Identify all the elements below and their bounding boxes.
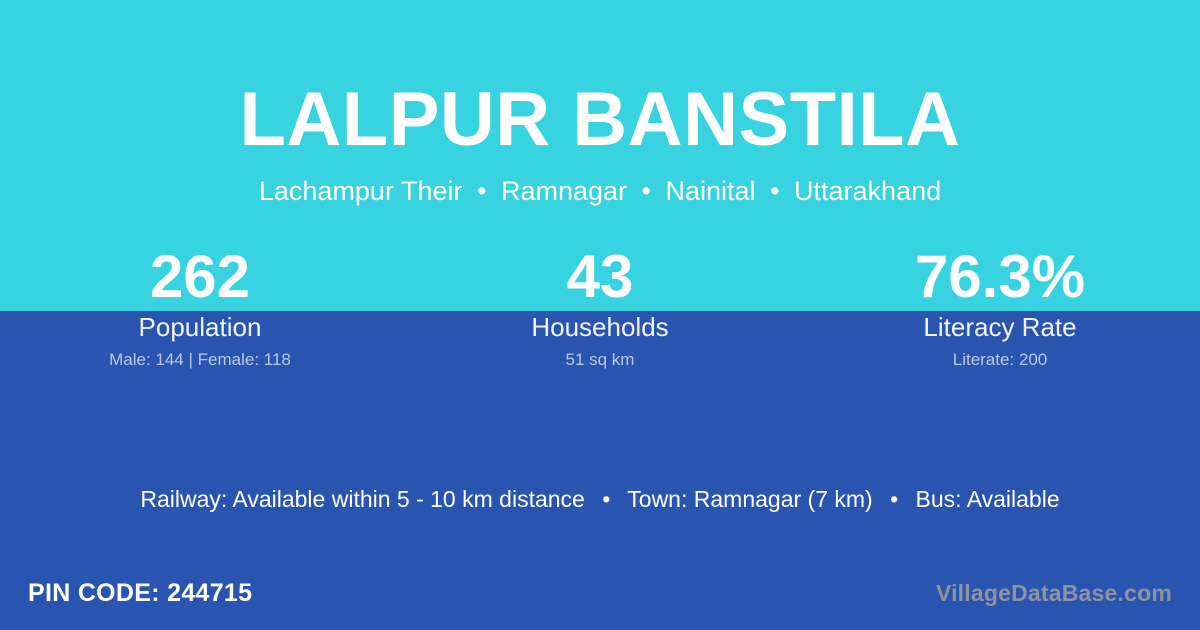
stats-row: 262 Population Male: 144 | Female: 118 4… bbox=[0, 246, 1200, 370]
breadcrumb-separator-icon: • bbox=[635, 176, 658, 206]
infrastructure-separator-icon: • bbox=[591, 486, 621, 512]
breadcrumb-item-district: Nainital bbox=[666, 176, 756, 206]
footer: PIN CODE: 244715 VillageDataBase.com bbox=[0, 556, 1200, 630]
breadcrumb: Lachampur Their • Ramnagar • Nainital • … bbox=[0, 158, 1200, 205]
breadcrumb-item-state: Uttarakhand bbox=[794, 176, 941, 206]
stat-label: Population bbox=[0, 312, 400, 342]
hero-section: LALPUR BANSTILA Lachampur Their • Ramnag… bbox=[0, 0, 1200, 205]
stat-literacy-rate: 76.3% Literacy Rate Literate: 200 bbox=[800, 246, 1200, 370]
stat-label: Literacy Rate bbox=[800, 312, 1200, 342]
stat-value: 43 bbox=[400, 246, 800, 308]
stat-value: 76.3% bbox=[800, 246, 1200, 308]
infrastructure-item-town: Town: Ramnagar (7 km) bbox=[627, 486, 872, 512]
village-info-card: LALPUR BANSTILA Lachampur Their • Ramnag… bbox=[0, 0, 1200, 630]
infrastructure-line: Railway: Available within 5 - 10 km dist… bbox=[0, 483, 1200, 515]
stat-sublabel: Literate: 200 bbox=[800, 350, 1200, 370]
page-title: LALPUR BANSTILA bbox=[0, 0, 1200, 158]
breadcrumb-separator-icon: • bbox=[470, 176, 493, 206]
stat-value: 262 bbox=[0, 246, 400, 308]
site-brand: VillageDataBase.com bbox=[936, 580, 1172, 607]
breadcrumb-item-village: Lachampur Their bbox=[259, 176, 463, 206]
stat-population: 262 Population Male: 144 | Female: 118 bbox=[0, 246, 400, 370]
pin-code: PIN CODE: 244715 bbox=[28, 579, 252, 608]
breadcrumb-item-block: Ramnagar bbox=[501, 176, 627, 206]
stat-sublabel: 51 sq km bbox=[400, 350, 800, 370]
stat-label: Households bbox=[400, 312, 800, 342]
infrastructure-separator-icon: • bbox=[879, 486, 909, 512]
stat-sublabel: Male: 144 | Female: 118 bbox=[0, 350, 400, 370]
breadcrumb-separator-icon: • bbox=[763, 176, 786, 206]
stat-households: 43 Households 51 sq km bbox=[400, 246, 800, 370]
infrastructure-item-bus: Bus: Available bbox=[916, 486, 1060, 512]
infrastructure-item-railway: Railway: Available within 5 - 10 km dist… bbox=[140, 486, 584, 512]
